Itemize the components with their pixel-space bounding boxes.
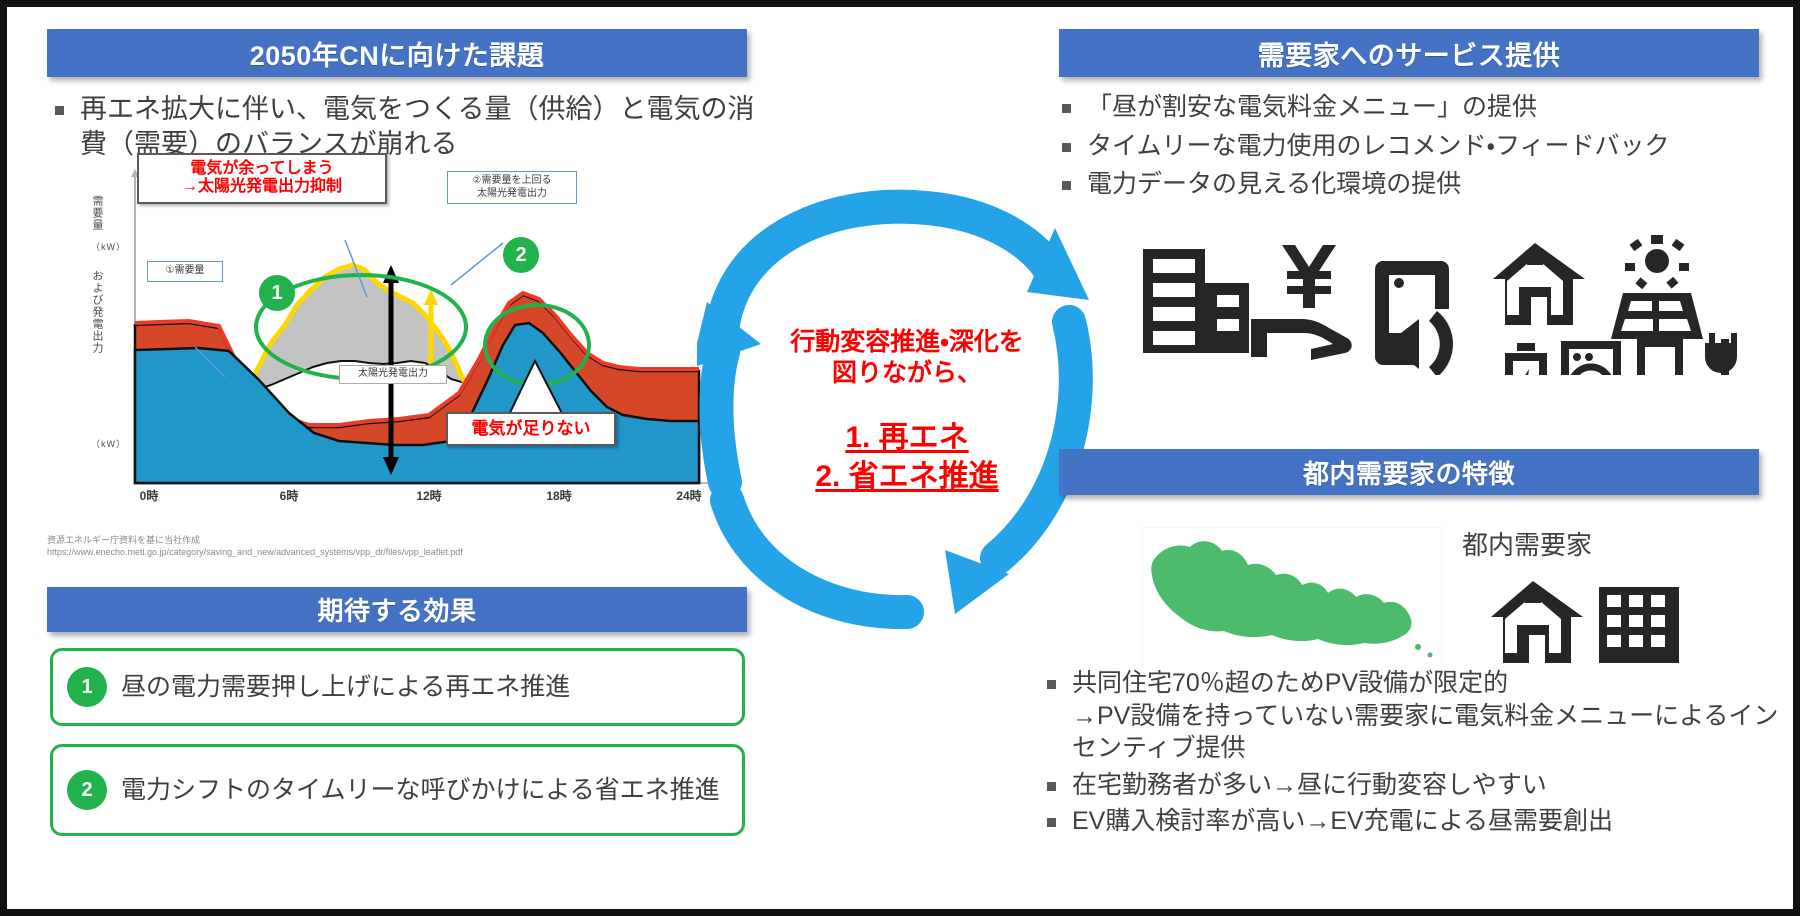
chart-y-axis-unit-2: （kW） <box>91 440 117 449</box>
tokyo-bullet-text-3: EV購入検討率が高い→EV充電による昼需要創出 <box>1072 805 1787 838</box>
tokyo-bullet-text-2: 在宅勤務者が多い→昼に行動変容しやすい <box>1072 769 1787 802</box>
service-bullet-text-3: 電力データの見える化環境の提供 <box>1087 168 1782 201</box>
bullet-square-icon <box>1062 143 1071 152</box>
battery-icon <box>1505 343 1547 375</box>
service-bullet-text-1: 「昼が割安な電気料金メニュー」の提供 <box>1087 91 1782 124</box>
hand-yen-icon <box>1251 245 1352 360</box>
supply-demand-chart: 需要量 （kW） および発電出力 （kW） <box>99 165 739 515</box>
curtailment-callout: 電気が余ってしまう →太陽光発電出力抑制 <box>137 153 387 204</box>
panel-title-effects: 期待する効果 <box>317 591 476 628</box>
list-item: 「昼が割安な電気料金メニュー」の提供 <box>1062 91 1782 124</box>
chart-y-axis-label-1: 需要量 <box>91 195 102 231</box>
chart-x-tick-1: 6時 <box>280 487 299 504</box>
list-item: 電力データの見える化環境の提供 <box>1062 168 1782 201</box>
panel-title-service: 需要家へのサービス提供 <box>1258 34 1561 73</box>
bullet-square-icon <box>1062 104 1071 113</box>
smartphone-notification-icon <box>1375 261 1453 375</box>
tokyo-map-shape <box>1142 527 1442 687</box>
service-icon-row <box>1137 235 1757 375</box>
apartment-icon <box>1599 587 1679 663</box>
effect-badge-1: 1 <box>67 667 107 707</box>
challenge-bullet-list: 再エネ拡大に伴い、電気をつくる量（供給）と電気の消費（需要）のバランスが崩れる <box>55 92 755 162</box>
list-item: 共同住宅70％超のためPV設備が限定的 →PV設備を持っていない需要家に電気料金… <box>1047 667 1787 765</box>
list-item: タイムリーな電力使用のレコメンド・フィードバック <box>1062 130 1782 163</box>
chart-x-tick-3: 18時 <box>546 487 571 504</box>
chart-marker-1: 1 <box>259 275 295 311</box>
chart-y-axis-unit-1: （kW） <box>91 243 117 252</box>
chart-x-tick-0: 0時 <box>140 487 159 504</box>
behavior-change-cycle-diagram <box>697 182 1117 642</box>
chart-plot-area <box>99 165 739 515</box>
bullet-square-icon <box>1047 818 1056 827</box>
panel-header-service: 需要家へのサービス提供 <box>1059 29 1759 77</box>
bullet-square-icon <box>55 106 64 115</box>
panel-title-challenge: 2050年CNに向けた課題 <box>250 34 545 73</box>
panel-header-challenge: 2050年CNに向けた課題 <box>47 29 747 77</box>
effect-badge-2: 2 <box>67 770 107 810</box>
effect-box-2: 2 電力シフトのタイムリーな呼びかけによる省エネ推進 <box>50 744 745 836</box>
panel-title-tokyo: 都内需要家の特徴 <box>1303 454 1515 491</box>
ev-charger-icon <box>1637 333 1737 375</box>
tokyo-customer-icon-row <box>1487 577 1687 667</box>
chart-x-tick-2: 12時 <box>416 487 441 504</box>
solar-panel-icon <box>1611 235 1703 339</box>
solar-output-label: 太陽光発電出力 <box>339 365 447 384</box>
excess-solar-callout: ②需要量を上回る 太陽光発電出力 <box>447 171 577 204</box>
list-item: 在宅勤務者が多い→昼に行動変容しやすい <box>1047 769 1787 802</box>
effect-text-2: 電力シフトのタイムリーな呼びかけによる省エネ推進 <box>121 775 720 806</box>
challenge-bullet-text: 再エネ拡大に伴い、電気をつくる量（供給）と電気の消費（需要）のバランスが崩れる <box>80 92 755 162</box>
tokyo-bullet-list: 共同住宅70％超のためPV設備が限定的 →PV設備を持っていない需要家に電気料金… <box>1047 667 1787 838</box>
slide-canvas: 2050年CNに向けた課題 再エネ拡大に伴い、電気をつくる量（供給）と電気の消費… <box>7 7 1793 909</box>
house-icon <box>1491 581 1583 663</box>
building-icon <box>1143 249 1249 353</box>
tokyo-map-caption: 都内需要家 <box>1462 525 1592 562</box>
washing-machine-icon <box>1561 341 1621 375</box>
list-item: EV購入検討率が高い→EV充電による昼需要創出 <box>1047 805 1787 838</box>
service-bullet-text-2: タイムリーな電力使用のレコメンド・フィードバック <box>1087 130 1782 163</box>
list-item: 再エネ拡大に伴い、電気をつくる量（供給）と電気の消費（需要）のバランスが崩れる <box>55 92 755 162</box>
bullet-square-icon <box>1062 181 1071 190</box>
house-icon <box>1493 243 1585 325</box>
shortage-callout: 電気が足りない <box>446 412 616 446</box>
chart-y-axis-label-2: および発電出力 <box>91 270 102 354</box>
bullet-square-icon <box>1047 782 1056 791</box>
panel-header-tokyo: 都内需要家の特徴 <box>1059 449 1759 495</box>
chart-marker-2: 2 <box>503 237 539 273</box>
chart-source-citation: 資源エネルギー庁資料を基に当社作成 https://www.enecho.met… <box>47 534 737 558</box>
tokyo-bullet-text-1: 共同住宅70％超のためPV設備が限定的 →PV設備を持っていない需要家に電気料金… <box>1072 667 1787 765</box>
service-bullet-list: 「昼が割安な電気料金メニュー」の提供 タイムリーな電力使用のレコメンド・フィード… <box>1062 91 1782 201</box>
effect-text-1: 昼の電力需要押し上げによる再エネ推進 <box>121 672 570 703</box>
slide-root: 2050年CNに向けた課題 再エネ拡大に伴い、電気をつくる量（供給）と電気の消費… <box>0 0 1800 916</box>
effect-box-1: 1 昼の電力需要押し上げによる再エネ推進 <box>50 648 745 726</box>
demand-callout: ①需要量 <box>147 261 223 282</box>
panel-header-effects: 期待する効果 <box>47 587 747 632</box>
bullet-square-icon <box>1047 680 1056 689</box>
